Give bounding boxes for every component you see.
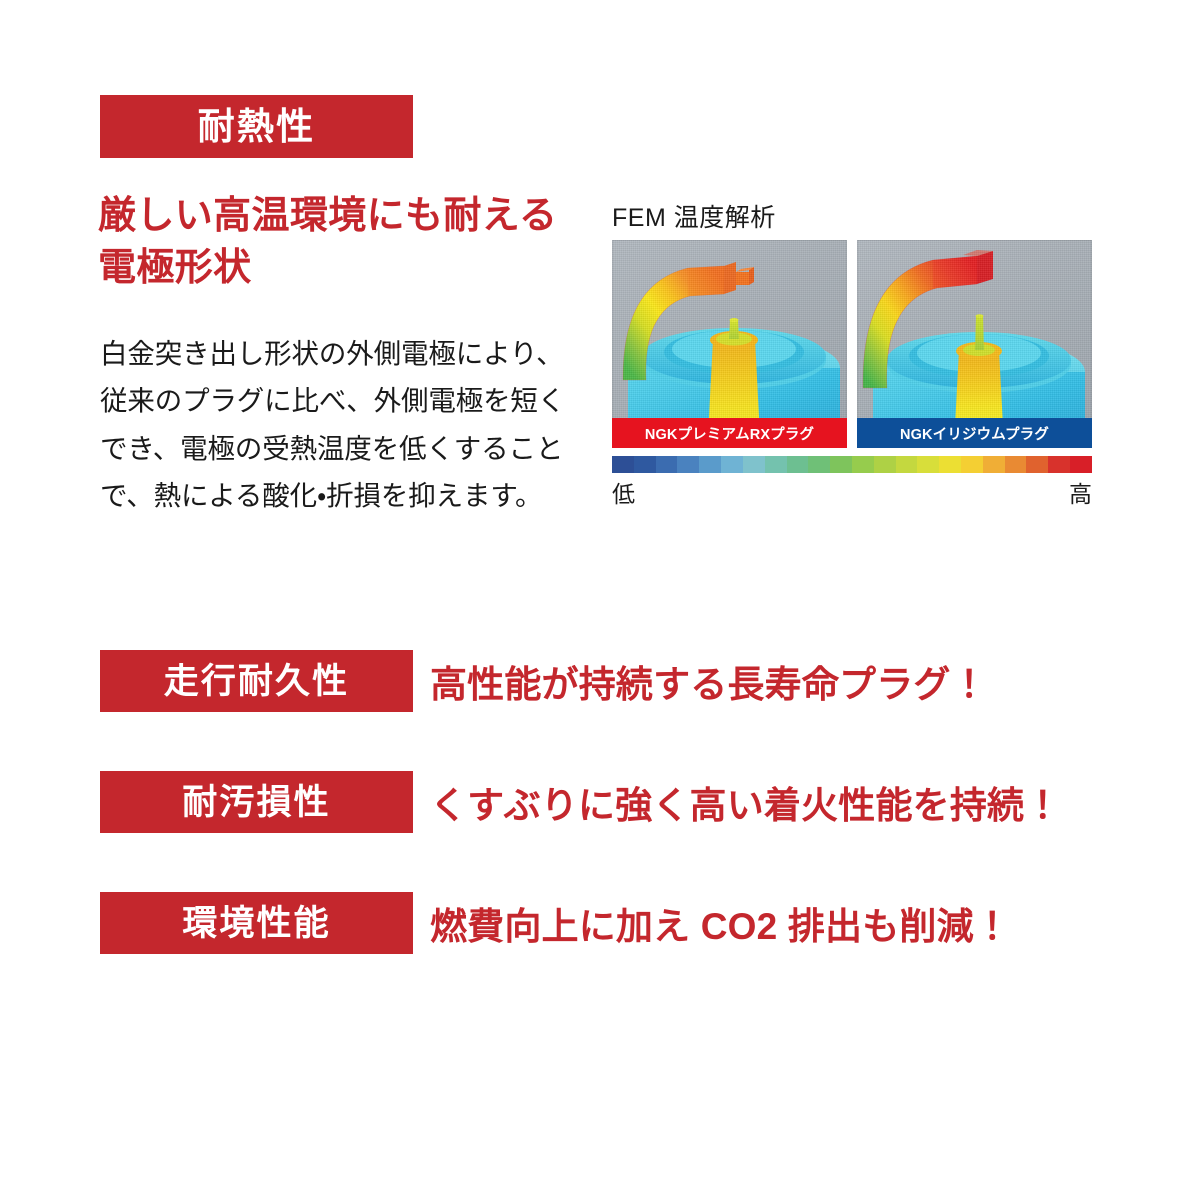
spark-plug-thermal-render-rx	[612, 240, 847, 448]
scale-swatch-20	[1048, 456, 1070, 473]
fem-analysis-title: FEM 温度解析	[612, 198, 1092, 228]
scale-high-label: 高	[1069, 475, 1092, 509]
scale-swatch-8	[787, 456, 809, 473]
heat-resistance-heading: 厳しい高温環境にも耐える電極形状	[98, 190, 568, 295]
fem-panel-group: NGKプレミアムRXプラグ	[612, 240, 1092, 448]
scale-swatch-14	[917, 456, 939, 473]
scale-swatch-15	[939, 456, 961, 473]
scale-swatch-5	[721, 456, 743, 473]
scale-swatch-9	[808, 456, 830, 473]
scale-swatch-6	[743, 456, 765, 473]
fem-caption-iridium: NGKイリジウムプラグ	[857, 418, 1092, 448]
scale-swatch-17	[983, 456, 1005, 473]
scale-swatch-11	[852, 456, 874, 473]
scale-swatch-7	[765, 456, 787, 473]
fem-analysis-block: FEM 温度解析	[612, 198, 1092, 509]
heat-resistance-badge: 耐熱性	[100, 95, 413, 158]
scale-swatch-19	[1026, 456, 1048, 473]
fem-caption-premium-rx: NGKプレミアムRXプラグ	[612, 418, 847, 448]
scale-swatch-13	[896, 456, 918, 473]
heat-resistance-body-text: 白金突き出し形状の外側電極により、従来のプラグに比べ、外側電極を短くでき、電極の…	[100, 330, 578, 519]
feature-row-fouling-resistance: 耐汚損性 くすぶりに強く高い着火性能を持続！	[100, 771, 1100, 833]
feature-text-durability: 高性能が持続する長寿命プラグ！	[430, 650, 988, 712]
feature-text-fouling-resistance: くすぶりに強く高い着火性能を持続！	[430, 771, 1061, 833]
scale-swatch-3	[677, 456, 699, 473]
scale-swatch-16	[961, 456, 983, 473]
scale-swatch-12	[874, 456, 896, 473]
feature-badge-environmental: 環境性能	[100, 892, 413, 954]
scale-swatch-2	[656, 456, 678, 473]
scale-swatch-0	[612, 456, 634, 473]
feature-badge-durability: 走行耐久性	[100, 650, 413, 712]
feature-row-environmental: 環境性能 燃費向上に加え CO2 排出も削減！	[100, 892, 1100, 954]
scale-swatch-4	[699, 456, 721, 473]
scale-swatch-21	[1070, 456, 1092, 473]
scale-swatch-10	[830, 456, 852, 473]
spark-plug-thermal-render-iridium	[857, 240, 1092, 448]
scale-low-label: 低	[612, 475, 635, 509]
fem-panel-premium-rx: NGKプレミアムRXプラグ	[612, 240, 847, 448]
temperature-color-scale-bar	[612, 456, 1092, 473]
scale-swatch-18	[1005, 456, 1027, 473]
feature-text-environmental: 燃費向上に加え CO2 排出も削減！	[430, 892, 1011, 954]
temperature-scale-labels: 低 高	[612, 475, 1092, 509]
feature-badge-fouling-resistance: 耐汚損性	[100, 771, 413, 833]
fem-panel-iridium: NGKイリジウムプラグ	[857, 240, 1092, 448]
scale-swatch-1	[634, 456, 656, 473]
feature-row-durability: 走行耐久性 高性能が持続する長寿命プラグ！	[100, 650, 1100, 712]
